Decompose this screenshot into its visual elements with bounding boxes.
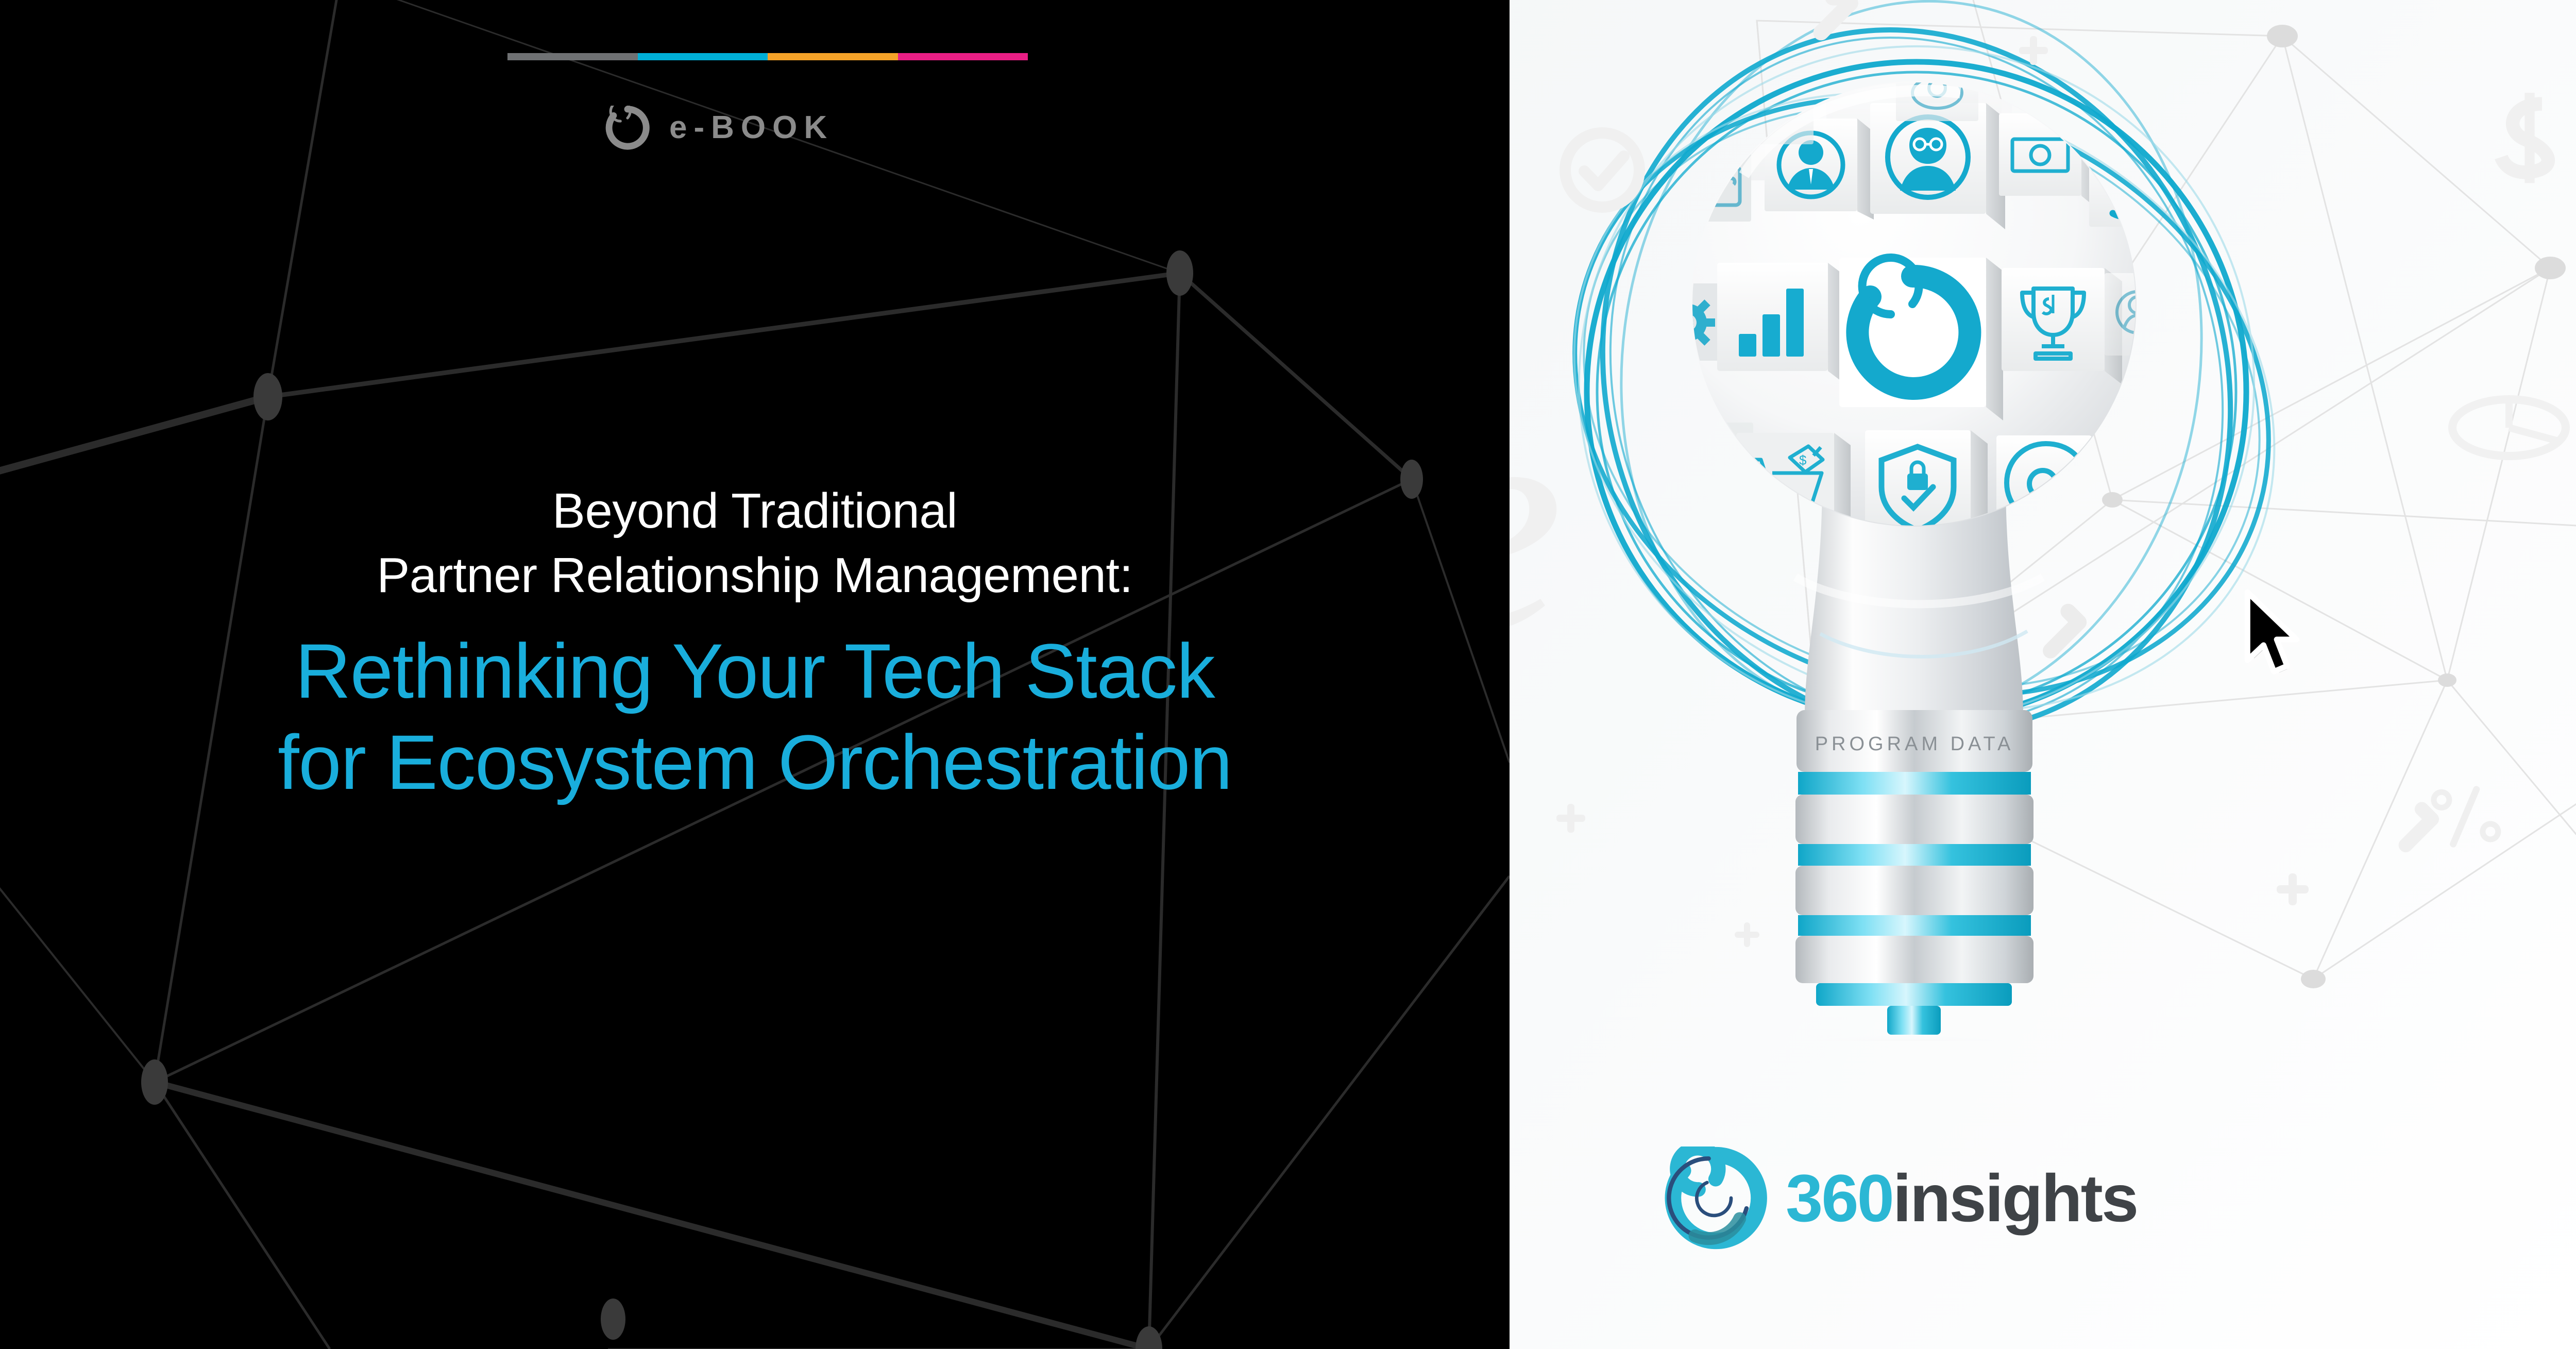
bulb-shadow (1692, 1033, 2136, 1041)
title-line-1: Rethinking Your Tech Stack (31, 626, 1479, 717)
svg-text:$: $ (1799, 452, 1807, 468)
colorbar-segment-cyan (638, 53, 768, 60)
program-data-label: PROGRAM DATA (1815, 733, 2014, 755)
lightbulb-graphic: $ (1589, 15, 2239, 1041)
colorbar-segment-gray (507, 53, 638, 60)
colorbar-segment-orange (768, 53, 898, 60)
headline-block: Beyond Traditional Partner Relationship … (0, 479, 1510, 808)
360-ring-icon (605, 106, 650, 150)
bulb-base: PROGRAM DATA (1795, 710, 2033, 1035)
accent-colorbar (507, 53, 1028, 60)
360insights-logo: 360insights (1664, 1146, 2137, 1250)
left-dark-panel: e-BOOK Beyond Traditional Partner Relati… (0, 0, 1510, 1349)
ebook-label: e-BOOK (669, 112, 834, 144)
mouse-pointer-icon[interactable] (2244, 587, 2300, 680)
title-line-2: for Ecosystem Orchestration (31, 717, 1479, 808)
ebook-badge: e-BOOK (605, 106, 834, 150)
brand-wordmark: 360insights (1786, 1165, 2137, 1232)
brand-text-insights: insights (1893, 1160, 2137, 1236)
ebook-cover-page: e-BOOK Beyond Traditional Partner Relati… (0, 0, 2576, 1349)
colorbar-segment-magenta (898, 53, 1028, 60)
eyebrow-line-1: Beyond Traditional (31, 479, 1479, 544)
lightbulb-svg: $ (1589, 15, 2239, 1041)
brand-text-360: 360 (1786, 1160, 1893, 1236)
eyebrow-line-2: Partner Relationship Management: (31, 544, 1479, 608)
svg-text:app: app (2060, 508, 2081, 522)
right-light-panel: e (1510, 0, 2576, 1349)
watermark-letter-e: e (1510, 361, 1564, 680)
360insights-ring-icon (1664, 1146, 1767, 1250)
